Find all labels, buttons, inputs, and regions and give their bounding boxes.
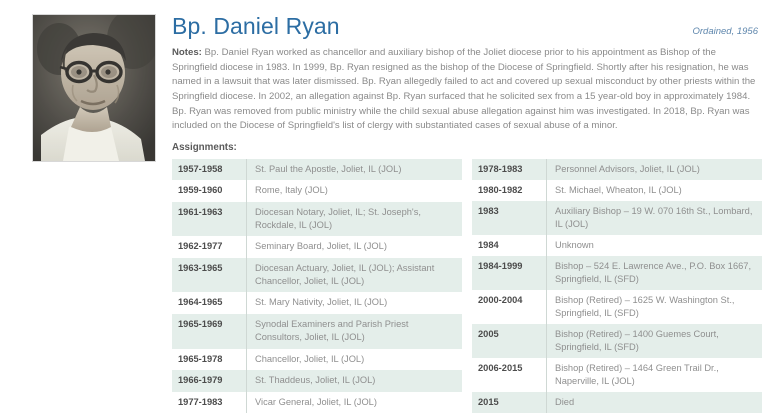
table-row: 1965-1978 Chancellor, Joliet, IL (JOL) (172, 349, 462, 370)
assignment-description: Auxiliary Bishop – 19 W. 070 16th St., L… (547, 201, 763, 235)
table-row: 2005 Bishop (Retired) – 1400 Guemes Cour… (472, 324, 762, 358)
assignment-description: St. Michael, Wheaton, IL (JOL) (547, 180, 763, 201)
assignment-description: St. Paul the Apostle, Joliet, IL (JOL) (247, 159, 463, 180)
assignment-date: 1983 (472, 201, 547, 235)
assignment-description: Bishop – 524 E. Lawrence Ave., P.O. Box … (547, 256, 763, 290)
assignment-description: Died (547, 392, 763, 413)
assignments-label: Assignments: (172, 142, 762, 153)
content-column: Bp. Daniel Ryan Ordained, 1956 Notes: Bp… (172, 14, 768, 415)
table-row: 1963-1965 Diocesan Actuary, Joliet, IL (… (172, 258, 462, 293)
assignment-date: 1964-1965 (172, 292, 247, 313)
assignment-description: Rome, Italy (JOL) (247, 180, 463, 201)
table-row: 1978-1983 Personnel Advisors, Joliet, IL… (472, 159, 762, 180)
assignment-date: 1978-1983 (472, 159, 547, 180)
assignment-description: St. Mary Nativity, Joliet, IL (JOL) (247, 292, 463, 313)
assignment-date: 1965-1969 (172, 314, 247, 349)
assignment-date: 1980-1982 (472, 180, 547, 201)
table-row: 1959-1960 Rome, Italy (JOL) (172, 180, 462, 201)
page-title: Bp. Daniel Ryan (172, 14, 340, 39)
assignment-description: Vicar General, Joliet, IL (JOL) (247, 392, 463, 413)
assignment-description: Bishop (Retired) – 1625 W. Washington St… (547, 290, 763, 324)
photo-column (0, 14, 172, 415)
assignment-description: Diocesan Notary, Joliet, IL; St. Joseph'… (247, 202, 463, 237)
table-row: 2015 Died (472, 392, 762, 413)
table-row: 1957-1958 St. Paul the Apostle, Joliet, … (172, 159, 462, 180)
table-row: 1983 Auxiliary Bishop – 19 W. 070 16th S… (472, 201, 762, 235)
assignment-description: St. Thaddeus, Joliet, IL (JOL) (247, 370, 463, 391)
assignment-date: 2000-2004 (472, 290, 547, 324)
notes-label: Notes: (172, 47, 202, 58)
assignment-description: Unknown (547, 235, 763, 256)
portrait-image (33, 15, 155, 161)
assignment-date: 2015 (472, 392, 547, 413)
assignment-date: 2005 (472, 324, 547, 358)
assignments-table-right: 1978-1983 Personnel Advisors, Joliet, IL… (472, 159, 762, 413)
assignment-date: 1962-1977 (172, 236, 247, 257)
assignment-description: Bishop (Retired) – 1464 Green Trail Dr.,… (547, 358, 763, 392)
table-row: 1961-1963 Diocesan Notary, Joliet, IL; S… (172, 202, 462, 237)
table-row: 2006-2015 Bishop (Retired) – 1464 Green … (472, 358, 762, 392)
assignment-date: 1959-1960 (172, 180, 247, 201)
table-row: 1966-1979 St. Thaddeus, Joliet, IL (JOL) (172, 370, 462, 391)
title-row: Bp. Daniel Ryan Ordained, 1956 (172, 14, 762, 39)
assignment-date: 1984 (472, 235, 547, 256)
assignment-description: Diocesan Actuary, Joliet, IL (JOL); Assi… (247, 258, 463, 293)
notes-paragraph: Notes: Bp. Daniel Ryan worked as chancel… (172, 46, 762, 133)
assignment-date: 1957-1958 (172, 159, 247, 180)
assignments-table-left: 1957-1958 St. Paul the Apostle, Joliet, … (172, 159, 462, 413)
assignment-date: 1963-1965 (172, 258, 247, 293)
assignment-date: 1977-1983 (172, 392, 247, 413)
bishop-portrait-photo (32, 14, 156, 162)
assignment-description: Personnel Advisors, Joliet, IL (JOL) (547, 159, 763, 180)
assignment-date: 1966-1979 (172, 370, 247, 391)
assignment-description: Seminary Board, Joliet, IL (JOL) (247, 236, 463, 257)
assignment-description: Synodal Examiners and Parish Priest Cons… (247, 314, 463, 349)
assignment-description: Chancellor, Joliet, IL (JOL) (247, 349, 463, 370)
assignment-date: 1961-1963 (172, 202, 247, 237)
table-row: 1980-1982 St. Michael, Wheaton, IL (JOL) (472, 180, 762, 201)
assignment-description: Bishop (Retired) – 1400 Guemes Court, Sp… (547, 324, 763, 358)
profile-page: Bp. Daniel Ryan Ordained, 1956 Notes: Bp… (0, 0, 768, 415)
assignment-date: 1965-1978 (172, 349, 247, 370)
table-row: 1964-1965 St. Mary Nativity, Joliet, IL … (172, 292, 462, 313)
assignment-date: 2006-2015 (472, 358, 547, 392)
assignments-tables: 1957-1958 St. Paul the Apostle, Joliet, … (172, 159, 762, 413)
table-row: 1965-1969 Synodal Examiners and Parish P… (172, 314, 462, 349)
assignment-date: 1984-1999 (472, 256, 547, 290)
notes-text: Bp. Daniel Ryan worked as chancellor and… (172, 47, 755, 131)
table-row: 1977-1983 Vicar General, Joliet, IL (JOL… (172, 392, 462, 413)
table-row: 1984-1999 Bishop – 524 E. Lawrence Ave.,… (472, 256, 762, 290)
table-row: 2000-2004 Bishop (Retired) – 1625 W. Was… (472, 290, 762, 324)
ordained-label: Ordained, 1956 (693, 26, 759, 39)
table-row: 1984 Unknown (472, 235, 762, 256)
table-row: 1962-1977 Seminary Board, Joliet, IL (JO… (172, 236, 462, 257)
